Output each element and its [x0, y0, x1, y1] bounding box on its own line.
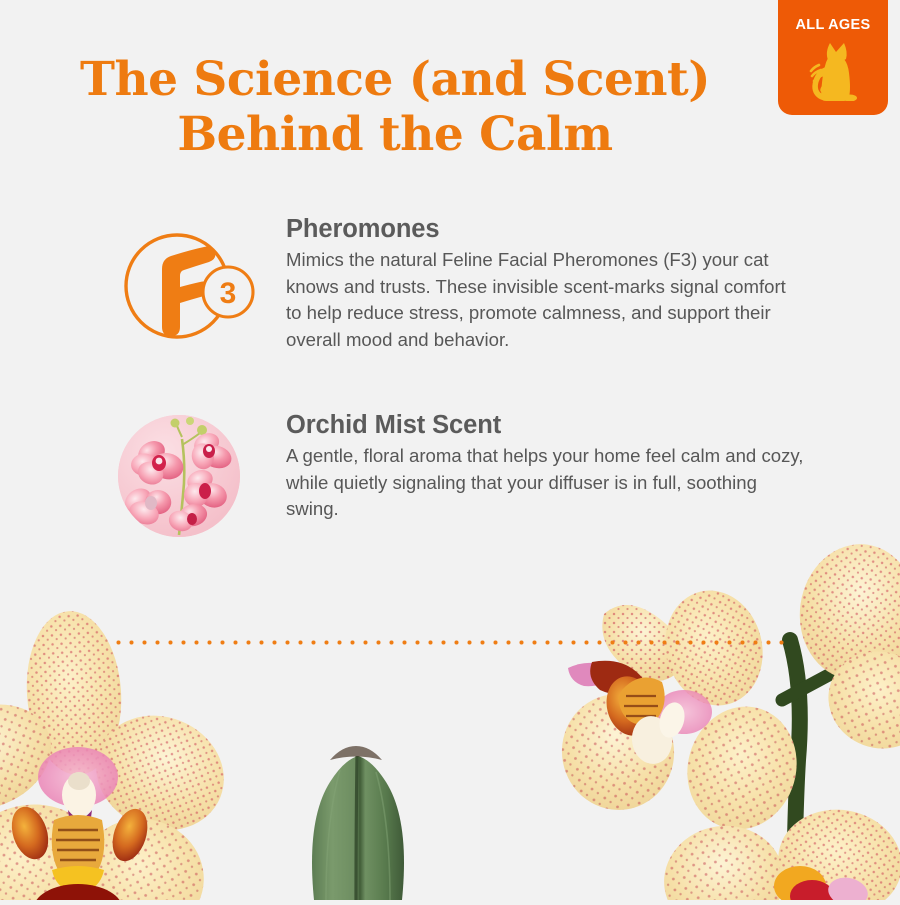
cat-silhouette-icon — [806, 39, 860, 106]
orchid-right-main — [553, 580, 811, 842]
bottom-right-orchid-cluster — [553, 537, 900, 900]
badge-label: ALL AGES — [796, 18, 871, 33]
feature-heading: Orchid Mist Scent — [286, 411, 805, 440]
feature-heading: Pheromones — [286, 215, 805, 244]
f3-pheromone-icon: 3 — [118, 229, 258, 347]
bottom-center-leaf — [312, 746, 404, 900]
title-line-1: The Science (and Scent) — [80, 52, 710, 107]
feature-body: A gentle, floral aroma that helps your h… — [286, 443, 805, 523]
page-title: The Science (and Scent) Behind the Calm — [0, 52, 790, 163]
feature-item-orchid-mist: Orchid Mist Scent A gentle, floral aroma… — [0, 411, 900, 537]
feature-body: Mimics the natural Feline Facial Pheromo… — [286, 247, 805, 353]
dotted-divider — [112, 640, 784, 645]
bottom-left-orchid — [0, 608, 241, 900]
orchid-right-upper — [791, 537, 900, 763]
title-line-2: Behind the Calm — [0, 107, 790, 162]
svg-text:3: 3 — [220, 277, 237, 310]
feature-text-block: Pheromones Mimics the natural Feline Fac… — [286, 215, 900, 353]
orchid-right-lower — [657, 800, 900, 900]
feature-icon-wrapper — [118, 411, 286, 537]
all-ages-badge: ALL AGES — [778, 0, 888, 115]
feature-list: 3 Pheromones Mimics the natural Feline F… — [0, 215, 900, 537]
feature-text-block: Orchid Mist Scent A gentle, floral aroma… — [286, 411, 900, 523]
feature-item-pheromones: 3 Pheromones Mimics the natural Feline F… — [0, 215, 900, 353]
feature-icon-wrapper: 3 — [118, 215, 286, 347]
orchid-photo-icon — [118, 415, 240, 537]
